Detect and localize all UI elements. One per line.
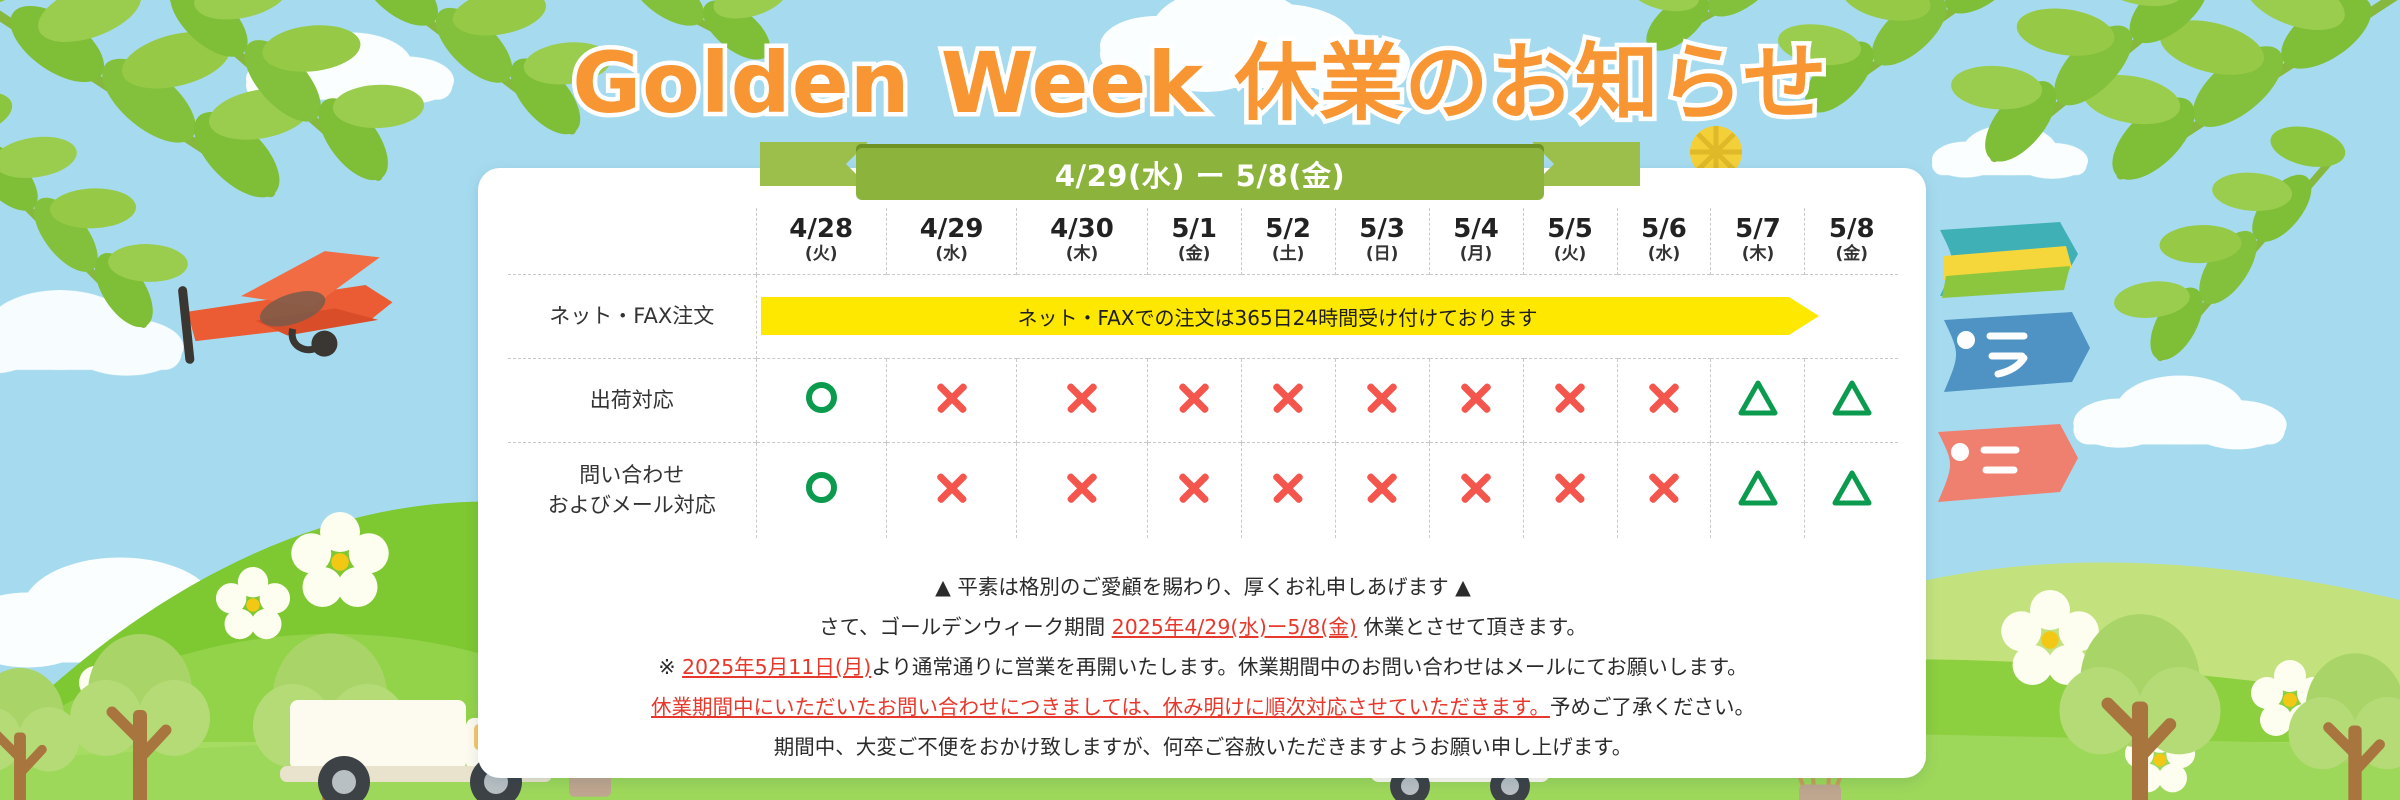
- cell-shipping-9: [1711, 358, 1805, 442]
- header-weekday: (金): [1805, 243, 1898, 265]
- order-availability-bar: ネット・FAXでの注文は365日24時間受け付けております: [761, 297, 1819, 335]
- status-cross-icon: [1458, 470, 1494, 506]
- status-cross-icon: [1364, 380, 1400, 416]
- header-col-5: 5/3 (日): [1335, 208, 1429, 274]
- row-label-inquiry-line1: 問い合わせ: [508, 460, 756, 490]
- status-cross-icon: [1270, 380, 1306, 416]
- status-cross-icon: [1552, 380, 1588, 416]
- header-weekday: (火): [757, 243, 886, 265]
- header-date: 5/5: [1524, 216, 1617, 243]
- header-weekday: (火): [1524, 243, 1617, 265]
- header-col-8: 5/6 (水): [1617, 208, 1711, 274]
- row-label-inquiry-line2: およびメール対応: [508, 490, 756, 520]
- footer-line-4: 休業期間中にいただいたお問い合わせにつきましては、休み明けに順次対応させていただ…: [508, 688, 1898, 728]
- header-date: 5/3: [1336, 216, 1429, 243]
- header-weekday: (水): [887, 243, 1016, 265]
- cell-inquiry-4: [1241, 442, 1335, 538]
- row-label-order: ネット・FAX注文: [508, 274, 756, 358]
- status-cross-icon: [1364, 470, 1400, 506]
- cell-inquiry-5: [1335, 442, 1429, 538]
- cell-inquiry-2: [1017, 442, 1147, 538]
- cell-shipping-3: [1147, 358, 1241, 442]
- header-date: 4/30: [1017, 216, 1146, 243]
- cell-shipping-6: [1429, 358, 1523, 442]
- cell-inquiry-8: [1617, 442, 1711, 538]
- holiday-schedule-table: 4/28 (火) 4/29 (水) 4/30 (木) 5/1 (金) 5/2 (…: [508, 208, 1898, 538]
- header-col-9: 5/7 (木): [1711, 208, 1805, 274]
- row-label-shipping: 出荷対応: [508, 358, 756, 442]
- cell-shipping-5: [1335, 358, 1429, 442]
- footer-line-4-b: 予めご了承ください。: [1550, 695, 1755, 719]
- header-corner-cell: [508, 208, 756, 274]
- status-triangle-icon: [1832, 380, 1872, 416]
- header-weekday: (木): [1017, 243, 1146, 265]
- header-date: 4/29: [887, 216, 1016, 243]
- ribbon-period-text: 4/29(水) ー 5/8(金): [1055, 153, 1345, 195]
- status-cross-icon: [1176, 380, 1212, 416]
- header-weekday: (水): [1618, 243, 1711, 265]
- cell-shipping-4: [1241, 358, 1335, 442]
- order-availability-text: ネット・FAXでの注文は365日24時間受け付けております: [761, 297, 1819, 335]
- status-triangle-icon: [1738, 380, 1778, 416]
- header-col-6: 5/4 (月): [1429, 208, 1523, 274]
- cell-shipping-7: [1523, 358, 1617, 442]
- header-col-10: 5/8 (金): [1805, 208, 1898, 274]
- header-date: 4/28: [757, 216, 886, 243]
- period-ribbon: 4/29(水) ー 5/8(金): [760, 138, 1640, 200]
- cell-shipping-1: [886, 358, 1016, 442]
- status-cross-icon: [1552, 470, 1588, 506]
- footer-line-2-a: さて、ゴールデンウィーク期間: [819, 615, 1112, 639]
- header-date: 5/4: [1430, 216, 1523, 243]
- table-row: ネット・FAX注文 ネット・FAXでの注文は365日24時間受け付けております: [508, 274, 1898, 358]
- header-col-0: 4/28 (火): [756, 208, 886, 274]
- header-date: 5/7: [1711, 216, 1804, 243]
- order-availability-bar-cell: ネット・FAXでの注文は365日24時間受け付けております: [756, 274, 1898, 358]
- cell-shipping-0: [756, 358, 886, 442]
- footer-line-4-red: 休業期間中にいただいたお問い合わせにつきましては、休み明けに順次対応させていただ…: [651, 695, 1550, 719]
- cell-inquiry-0: [756, 442, 886, 538]
- status-cross-icon: [1064, 380, 1100, 416]
- cell-shipping-10: [1805, 358, 1898, 442]
- status-cross-icon: [934, 470, 970, 506]
- row-label-inquiry: 問い合わせ およびメール対応: [508, 442, 756, 538]
- header-date: 5/2: [1242, 216, 1335, 243]
- footer-line-3-a: ※: [658, 655, 682, 679]
- status-cross-icon: [1064, 470, 1100, 506]
- cell-inquiry-7: [1523, 442, 1617, 538]
- table-row: 問い合わせ およびメール対応: [508, 442, 1898, 538]
- cell-inquiry-1: [886, 442, 1016, 538]
- header-date: 5/1: [1148, 216, 1241, 243]
- cell-inquiry-9: [1711, 442, 1805, 538]
- cell-shipping-2: [1017, 358, 1147, 442]
- status-triangle-icon: [1832, 470, 1872, 506]
- header-weekday: (金): [1148, 243, 1241, 265]
- header-weekday: (月): [1430, 243, 1523, 265]
- cell-inquiry-3: [1147, 442, 1241, 538]
- header-weekday: (日): [1336, 243, 1429, 265]
- footer-line-2: さて、ゴールデンウィーク期間 2025年4/29(水)ー5/8(金) 休業とさせ…: [508, 608, 1898, 648]
- status-cross-icon: [1458, 380, 1494, 416]
- cell-inquiry-10: [1805, 442, 1898, 538]
- status-circle-icon: [806, 382, 837, 413]
- header-date: 5/6: [1618, 216, 1711, 243]
- table-header-row: 4/28 (火) 4/29 (水) 4/30 (木) 5/1 (金) 5/2 (…: [508, 208, 1898, 274]
- header-col-4: 5/2 (土): [1241, 208, 1335, 274]
- header-col-3: 5/1 (金): [1147, 208, 1241, 274]
- table-row: 出荷対応: [508, 358, 1898, 442]
- footer-line-3-b: より通常通りに営業を再開いたします。休業期間中のお問い合わせはメールにてお願いし…: [871, 655, 1747, 679]
- status-triangle-icon: [1738, 470, 1778, 506]
- header-col-1: 4/29 (水): [886, 208, 1016, 274]
- footer-line-2-b: 休業とさせて頂きます。: [1357, 615, 1587, 639]
- header-date: 5/8: [1805, 216, 1898, 243]
- header-col-7: 5/5 (火): [1523, 208, 1617, 274]
- footer-line-3-resume-date: 2025年5月11日(月): [682, 655, 871, 679]
- footer-line-3: ※ 2025年5月11日(月)より通常通りに営業を再開いたします。休業期間中のお…: [508, 648, 1898, 688]
- footer-line-2-period: 2025年4/29(水)ー5/8(金): [1112, 615, 1357, 639]
- status-cross-icon: [1646, 470, 1682, 506]
- footer-line-5: 期間中、大変ご不便をおかけ致しますが、何卒ご容赦いただきますようお願い申し上げま…: [508, 728, 1898, 768]
- header-weekday: (土): [1242, 243, 1335, 265]
- status-cross-icon: [1176, 470, 1212, 506]
- status-circle-icon: [806, 472, 837, 503]
- header-weekday: (木): [1711, 243, 1804, 265]
- footer-notes: ▲ 平素は格別のご愛顧を賜わり、厚くお礼申しあげます ▲ さて、ゴールデンウィー…: [508, 568, 1898, 768]
- status-cross-icon: [934, 380, 970, 416]
- header-col-2: 4/30 (木): [1017, 208, 1147, 274]
- footer-line-1: ▲ 平素は格別のご愛顧を賜わり、厚くお礼申しあげます ▲: [508, 568, 1898, 608]
- cell-inquiry-6: [1429, 442, 1523, 538]
- status-cross-icon: [1646, 380, 1682, 416]
- status-cross-icon: [1270, 470, 1306, 506]
- cell-shipping-8: [1617, 358, 1711, 442]
